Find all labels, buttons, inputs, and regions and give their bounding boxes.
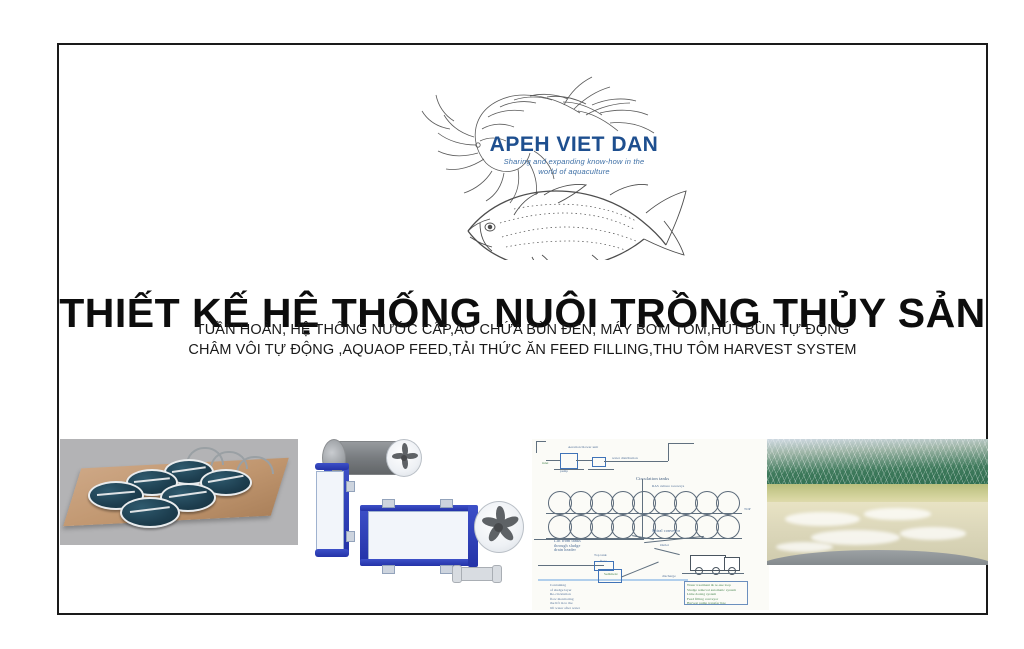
mount-lug (382, 499, 395, 508)
mount-lug (346, 531, 355, 542)
paddlewheel-fan (474, 501, 524, 553)
mount-lug (346, 481, 355, 492)
support-foot (492, 565, 502, 583)
image-strip: Aeration blower unit water distribution … (59, 45, 986, 613)
top-rail (360, 505, 474, 511)
slide-frame: APEH VIET DAN Sharing and expanding know… (57, 43, 988, 615)
image-hand-drawn-system-schematic: Aeration blower unit water distribution … (532, 439, 769, 610)
top-rail (315, 463, 349, 470)
schematic-component (560, 453, 578, 469)
image-cad-drawing-drum-filter-paddlewheel (302, 435, 530, 607)
mount-lug (440, 499, 453, 508)
bottom-rail (315, 549, 349, 557)
filter-panel (368, 511, 470, 561)
schematic-component (592, 457, 606, 467)
filter-panel (316, 471, 344, 551)
image-photo-shaded-aquaculture-pond (767, 439, 988, 565)
support-foot (452, 565, 462, 583)
mount-lug (382, 565, 395, 574)
fan-wheel (386, 439, 422, 477)
image-3d-render-circular-tank-farm (60, 439, 298, 545)
culture-tank (120, 497, 180, 528)
